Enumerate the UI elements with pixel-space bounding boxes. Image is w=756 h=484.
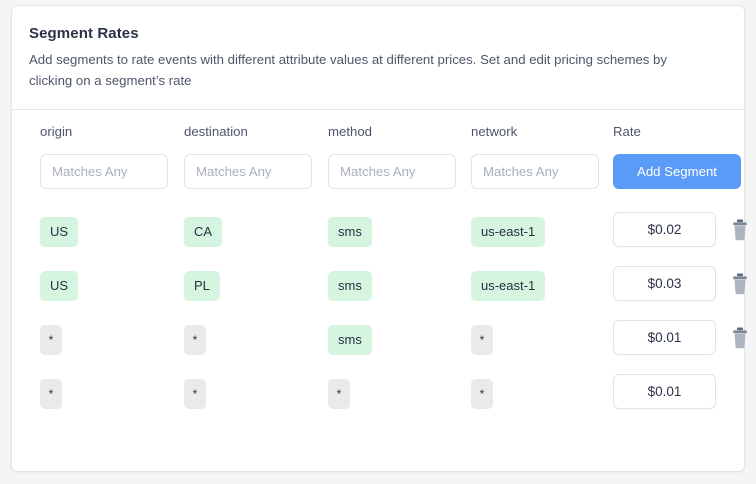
column-header-rate: Rate bbox=[613, 124, 641, 139]
card-description: Add segments to rate events with differe… bbox=[29, 49, 689, 91]
rate-value-button[interactable]: $0.01 bbox=[613, 374, 716, 409]
segment-tag-network: us-east-1 bbox=[471, 271, 545, 301]
column-header-network: network bbox=[471, 124, 517, 139]
segment-tag-origin: * bbox=[40, 379, 62, 409]
column-header-method: method bbox=[328, 124, 372, 139]
table-row: USCAsmsus-east-1$0.02 bbox=[29, 208, 744, 262]
segment-tag-destination: * bbox=[184, 325, 206, 355]
filter-input-destination[interactable] bbox=[184, 154, 312, 189]
table-row: ****$0.01 bbox=[29, 370, 744, 424]
segment-tag-destination: PL bbox=[184, 271, 220, 301]
column-header-destination: destination bbox=[184, 124, 248, 139]
segment-tag-origin: US bbox=[40, 271, 78, 301]
segment-tag-destination: CA bbox=[184, 217, 222, 247]
rate-value-button[interactable]: $0.02 bbox=[613, 212, 716, 247]
filter-input-origin[interactable] bbox=[40, 154, 168, 189]
column-header-origin: origin bbox=[40, 124, 72, 139]
segment-tag-method: * bbox=[328, 379, 350, 409]
column-header-row: origindestinationmethodnetworkRate bbox=[29, 124, 744, 154]
trash-icon bbox=[730, 283, 750, 298]
filter-input-network[interactable] bbox=[471, 154, 599, 189]
segment-tag-method: sms bbox=[328, 217, 372, 247]
segment-tag-method: sms bbox=[328, 271, 372, 301]
delete-segment-button[interactable] bbox=[730, 273, 750, 295]
table-row: USPLsmsus-east-1$0.03 bbox=[29, 262, 744, 316]
filter-row: Add Segment bbox=[29, 154, 744, 208]
segment-tag-network: * bbox=[471, 325, 493, 355]
segment-tag-origin: * bbox=[40, 325, 62, 355]
segment-rates-grid: origindestinationmethodnetworkRate Add S… bbox=[29, 124, 744, 424]
rate-value-button[interactable]: $0.03 bbox=[613, 266, 716, 301]
segment-tag-network: us-east-1 bbox=[471, 217, 545, 247]
filter-input-method[interactable] bbox=[328, 154, 456, 189]
segment-tag-network: * bbox=[471, 379, 493, 409]
segment-rows: USCAsmsus-east-1$0.02USPLsmsus-east-1$0.… bbox=[29, 208, 744, 424]
delete-segment-button[interactable] bbox=[730, 327, 750, 349]
trash-icon bbox=[730, 337, 750, 352]
page-title: Segment Rates bbox=[29, 25, 720, 42]
table-row: **sms*$0.01 bbox=[29, 316, 744, 370]
card-header: Segment Rates Add segments to rate event… bbox=[12, 6, 744, 110]
delete-segment-button[interactable] bbox=[730, 219, 750, 241]
segment-rates-card: Segment Rates Add segments to rate event… bbox=[11, 5, 745, 472]
rate-value-button[interactable]: $0.01 bbox=[613, 320, 716, 355]
add-segment-button[interactable]: Add Segment bbox=[613, 154, 741, 189]
segment-tag-method: sms bbox=[328, 325, 372, 355]
trash-icon bbox=[730, 229, 750, 244]
segment-tag-origin: US bbox=[40, 217, 78, 247]
segment-tag-destination: * bbox=[184, 379, 206, 409]
